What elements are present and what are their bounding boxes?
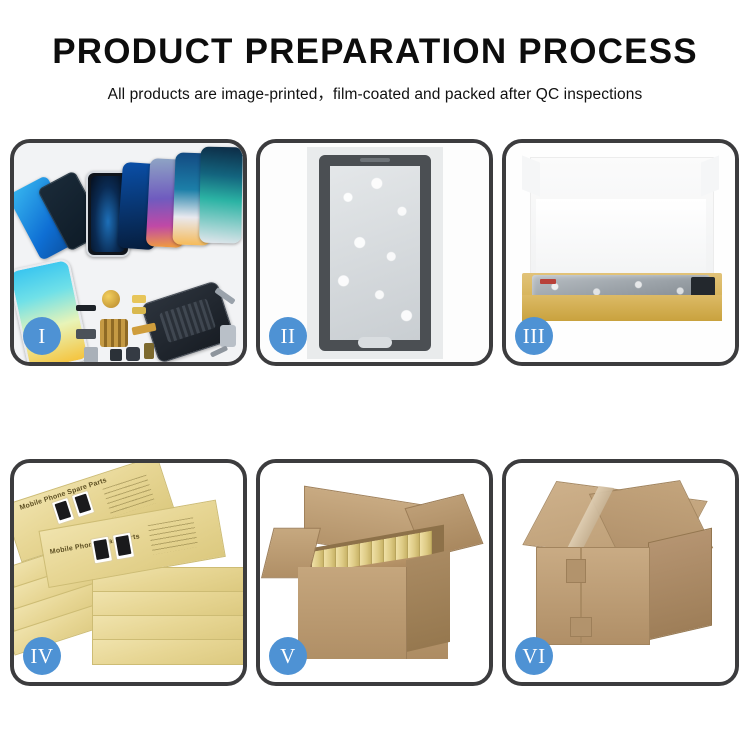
step-panel-4: Mobile Phone Spare Parts Mobile Phone Sp… bbox=[10, 459, 247, 686]
step-panel-3: III bbox=[502, 139, 739, 366]
page-subtitle: All products are image-printed，film-coat… bbox=[0, 82, 750, 104]
step-badge-4: IV bbox=[23, 637, 61, 675]
step-panel-6: VI bbox=[502, 459, 739, 686]
step-panel-5: V bbox=[256, 459, 493, 686]
step-badge-3: III bbox=[515, 317, 553, 355]
page-header: PRODUCT PREPARATION PROCESS All products… bbox=[0, 0, 750, 104]
step-panel-2: II bbox=[256, 139, 493, 366]
step-badge-5: V bbox=[269, 637, 307, 675]
process-steps-grid: I II III bbox=[10, 139, 740, 686]
step-badge-2: II bbox=[269, 317, 307, 355]
step-badge-6: VI bbox=[515, 637, 553, 675]
page-title: PRODUCT PREPARATION PROCESS bbox=[0, 34, 750, 71]
step-panel-1: I bbox=[10, 139, 247, 366]
step-badge-1: I bbox=[23, 317, 61, 355]
